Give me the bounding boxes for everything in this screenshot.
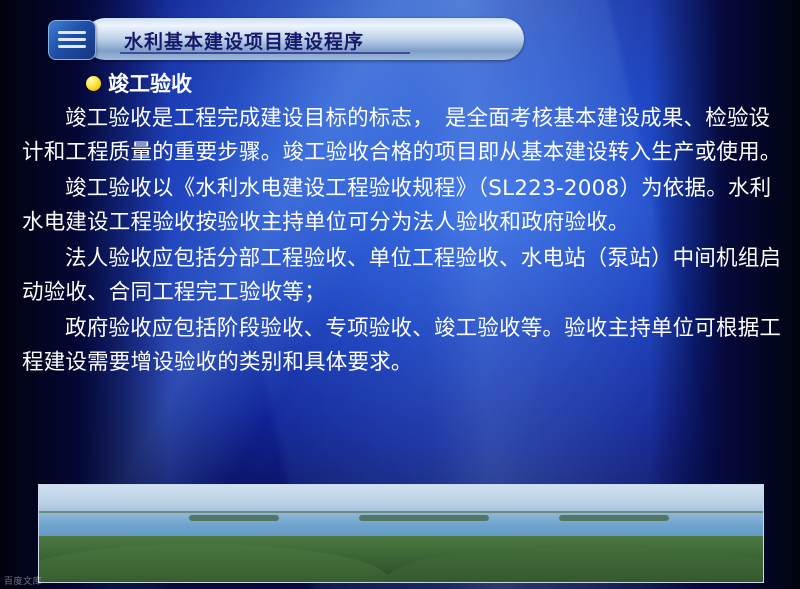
photo-island — [559, 515, 669, 521]
slide-body: 竣工验收是工程完成建设目标的标志， 是全面考核基本建设成果、检验设计和工程质量的… — [22, 102, 782, 382]
watermark-label: 百度文库 — [4, 574, 42, 587]
section-heading-label: 竣工验收 — [108, 68, 192, 98]
hamburger-menu-icon — [48, 20, 96, 60]
section-heading: 竣工验收 — [86, 68, 192, 98]
photo-island — [189, 515, 279, 521]
page-title: 水利基本建设项目建设程序 — [124, 27, 364, 54]
bullet-dot-icon — [86, 76, 101, 91]
paragraph-2: 竣工验收以《水利水电建设工程验收规程》（SL223-2008）为依据。水利水电建… — [22, 172, 782, 240]
landscape-photo — [38, 484, 764, 583]
slide-title-bar: 水利基本建设项目建设程序 — [24, 18, 524, 62]
paragraph-3: 法人验收应包括分部工程验收、单位工程验收、水电站（泵站）中间机组启动验收、合同工… — [22, 242, 782, 310]
slide-root: 水利基本建设项目建设程序 竣工验收 竣工验收是工程完成建设目标的标志， 是全面考… — [0, 0, 800, 589]
photo-island — [359, 515, 489, 521]
paragraph-1: 竣工验收是工程完成建设目标的标志， 是全面考核基本建设成果、检验设计和工程质量的… — [22, 102, 782, 170]
paragraph-4: 政府验收应包括阶段验收、专项验收、竣工验收等。验收主持单位可根据工程建设需要增设… — [22, 312, 782, 380]
